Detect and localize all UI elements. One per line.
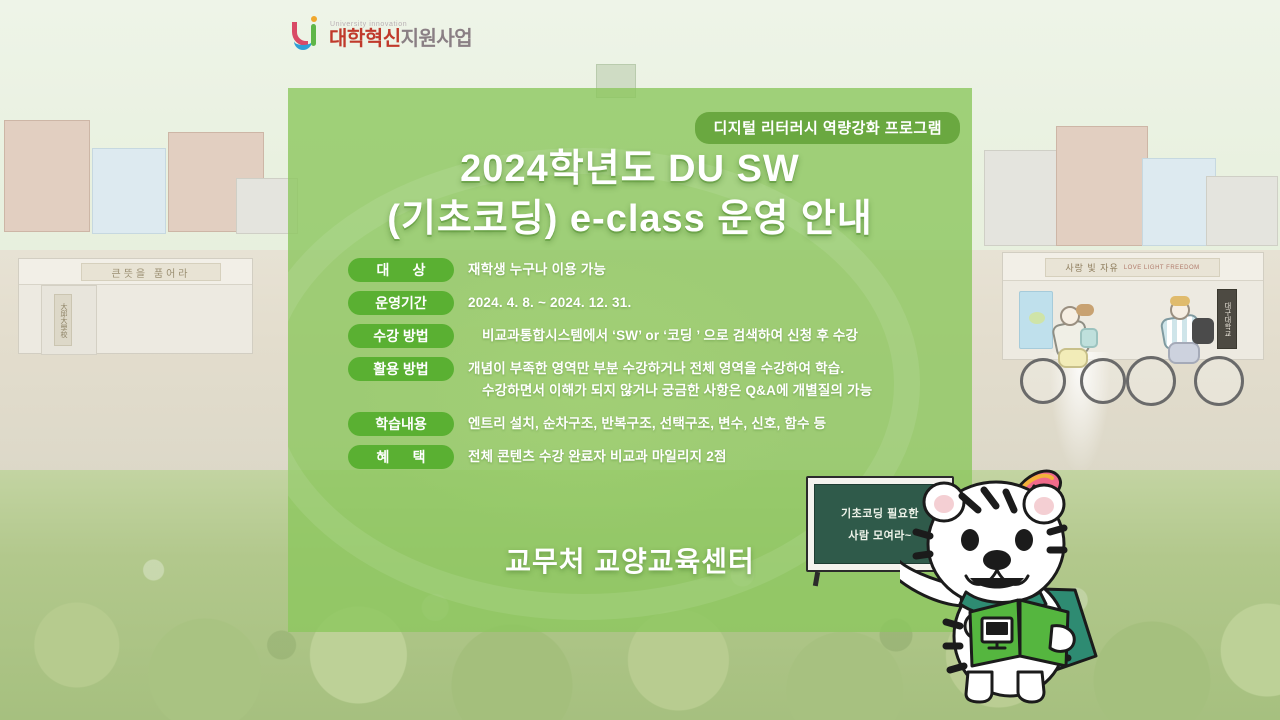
- program-badge-row: 디지털 리터러시 역량강화 프로그램: [695, 112, 960, 144]
- logo-korean-segment-two: 지원사업: [401, 28, 473, 50]
- info-row-value-line: 수강하면서 이해가 되지 않거나 궁금한 사항은 Q&A에 개별질의 가능: [468, 380, 948, 402]
- right-gate-vertical-plaque: 대구대학교: [1217, 289, 1237, 349]
- cyclist-one-wheel-rear: [1020, 358, 1066, 404]
- background-cyclist-one: [1018, 300, 1138, 410]
- mascot-eye-left: [961, 529, 979, 551]
- info-row: 혜 택 전체 콘텐츠 수강 완료자 비교과 마일리지 2점: [348, 445, 948, 469]
- cyclist-two-backpack: [1192, 318, 1214, 344]
- logo-text-group: University innovation 대학혁신지원사업: [329, 21, 472, 50]
- info-row-label: 운영기간: [348, 291, 454, 315]
- info-row-value: 비교과통합시스템에서 ‘SW’ or ‘코딩 ’ 으로 검색하여 신청 후 수강: [468, 324, 948, 347]
- cyclist-one-head: [1060, 306, 1080, 326]
- tiger-mascot: [900, 440, 1190, 710]
- left-gate-vertical-plaque: 大邱大學校: [54, 294, 72, 346]
- background-building-grey-far-right: [1206, 176, 1278, 246]
- background-building-pale-left: [92, 148, 166, 234]
- background-cyclist-two: [1124, 294, 1254, 412]
- info-row-value: 전체 콘텐츠 수강 완료자 비교과 마일리지 2점: [468, 445, 948, 468]
- poster-canvas: 큰뜻을 품어라 大邱大學校 사랑 빛 자유 LOVE LIGHT FREEDOM…: [0, 0, 1280, 720]
- background-building-brick-right: [1056, 126, 1148, 246]
- poster-title: 2024학년도 DU SW (기초코딩) e-class 운영 안내: [288, 144, 972, 244]
- info-row: 운영기간 2024. 4. 8. ~ 2024. 12. 31.: [348, 291, 948, 315]
- logo-english-tagline: University innovation: [330, 21, 472, 28]
- info-row-list: 대 상 재학생 누구나 이용 가능 운영기간 2024. 4. 8. ~ 202…: [348, 258, 948, 478]
- info-row: 수강 방법 비교과통합시스템에서 ‘SW’ or ‘코딩 ’ 으로 검색하여 신…: [348, 324, 948, 348]
- info-row-value: 개념이 부족한 영역만 부분 수강하거나 전체 영역을 수강하여 학습. 수강하…: [468, 357, 948, 402]
- cyclist-one-torso: [1051, 319, 1091, 359]
- mascot-body-stripe-1: [946, 622, 960, 626]
- mascot-leg-right: [1018, 672, 1044, 702]
- mascot-head-stripe-4: [1050, 528, 1064, 532]
- background-building-grey-right: [984, 150, 1062, 246]
- info-row-value-line: 재학생 누구나 이용 가능: [468, 259, 948, 281]
- right-gate-plaque-english: LOVE LIGHT FREEDOM: [1124, 265, 1200, 271]
- mascot-head-stripe-6: [916, 532, 930, 536]
- cyclist-one-hair: [1076, 304, 1094, 316]
- mascot-head-stripe-7: [916, 554, 930, 556]
- info-row-value: 엔트리 설치, 순차구조, 반복구조, 선택구조, 변수, 신호, 함수 등: [468, 412, 948, 435]
- info-row-label: 대 상: [348, 258, 454, 282]
- background-right-gate: 사랑 빛 자유 LOVE LIGHT FREEDOM 대구대학교: [1002, 252, 1264, 360]
- info-row: 대 상 재학생 누구나 이용 가능: [348, 258, 948, 282]
- info-row-label: 학습내용: [348, 412, 454, 436]
- info-row-label: 활용 방법: [348, 357, 454, 381]
- blackboard-leg-left: [813, 572, 820, 587]
- info-row-value-line: 개념이 부족한 영역만 부분 수강하거나 전체 영역을 수강하여 학습.: [468, 358, 948, 380]
- mascot-nose: [983, 550, 1011, 570]
- info-row-value-line: 2024. 4. 8. ~ 2024. 12. 31.: [468, 292, 948, 314]
- background-building-brick-mid: [168, 132, 264, 232]
- left-gate-plaque: 큰뜻을 품어라: [81, 263, 221, 281]
- info-row-value: 재학생 누구나 이용 가능: [468, 258, 948, 281]
- left-gate-pillar: 大邱大學校: [41, 285, 97, 355]
- cyclist-two-hair: [1170, 296, 1190, 306]
- cyclist-two-legs: [1168, 342, 1200, 364]
- cyclist-one-legs: [1058, 348, 1088, 368]
- info-row: 학습내용 엔트리 설치, 순차구조, 반복구조, 선택구조, 변수, 신호, 함…: [348, 412, 948, 436]
- logo-korean-segment-one: 대학혁신: [329, 28, 401, 50]
- mascot-eye-right: [1015, 529, 1033, 551]
- right-gate-plaque: 사랑 빛 자유 LOVE LIGHT FREEDOM: [1045, 258, 1220, 277]
- info-row-value-line: 엔트리 설치, 순차구조, 반복구조, 선택구조, 변수, 신호, 함수 등: [468, 413, 948, 435]
- logo-arc-stroke-icon: [294, 34, 312, 50]
- info-row-label: 수강 방법: [348, 324, 454, 348]
- info-row-value: 2024. 4. 8. ~ 2024. 12. 31.: [468, 291, 948, 314]
- cyclist-two-head: [1170, 300, 1190, 320]
- right-gate-plaque-korean: 사랑 빛 자유: [1065, 261, 1118, 274]
- tiger-mascot-illustration: [900, 440, 1190, 710]
- university-innovation-logo: University innovation 대학혁신지원사업: [292, 16, 472, 50]
- cyclist-two-torso: [1160, 313, 1203, 351]
- info-row-label: 혜 택: [348, 445, 454, 469]
- cyclist-one-backpack: [1080, 328, 1098, 348]
- cyclist-two-wheel-front: [1194, 356, 1244, 406]
- right-gate-banner: [1019, 291, 1053, 349]
- mascot-hand-right: [1050, 626, 1074, 652]
- cyclist-two-wheel-rear: [1126, 356, 1176, 406]
- background-left-gate: 큰뜻을 품어라 大邱大學校: [18, 258, 253, 354]
- mascot-ear-inner-left: [934, 495, 954, 513]
- logo-korean-name: 대학혁신지원사업: [329, 29, 472, 49]
- program-badge: 디지털 리터러시 역량강화 프로그램: [695, 112, 960, 144]
- mascot-leg-left: [966, 672, 992, 702]
- info-row-value-line: 전체 콘텐츠 수강 완료자 비교과 마일리지 2점: [468, 446, 948, 468]
- logo-mark-icon: [292, 16, 322, 50]
- background-building-brick-left: [4, 120, 90, 232]
- mascot-ear-inner-right: [1034, 497, 1054, 515]
- cyclist-one-wheel-front: [1080, 358, 1126, 404]
- background-building-pale-right: [1142, 158, 1216, 246]
- mascot-body-stripe-3: [950, 666, 964, 670]
- logo-j-stroke-icon: [311, 24, 316, 46]
- info-row: 활용 방법 개념이 부족한 영역만 부분 수강하거나 전체 영역을 수강하여 학…: [348, 357, 948, 402]
- mascot-book-monitor-screen: [986, 622, 1008, 635]
- right-gate-lintel: [1003, 253, 1263, 281]
- left-gate-lintel: [19, 259, 252, 285]
- poster-title-line-two: (기초코딩) e-class 운영 안내: [288, 194, 972, 244]
- poster-title-line-one: 2024학년도 DU SW: [288, 144, 972, 194]
- info-row-value-line: 비교과통합시스템에서 ‘SW’ or ‘코딩 ’ 으로 검색하여 신청 후 수강: [468, 325, 948, 347]
- logo-dot-icon: [311, 16, 317, 22]
